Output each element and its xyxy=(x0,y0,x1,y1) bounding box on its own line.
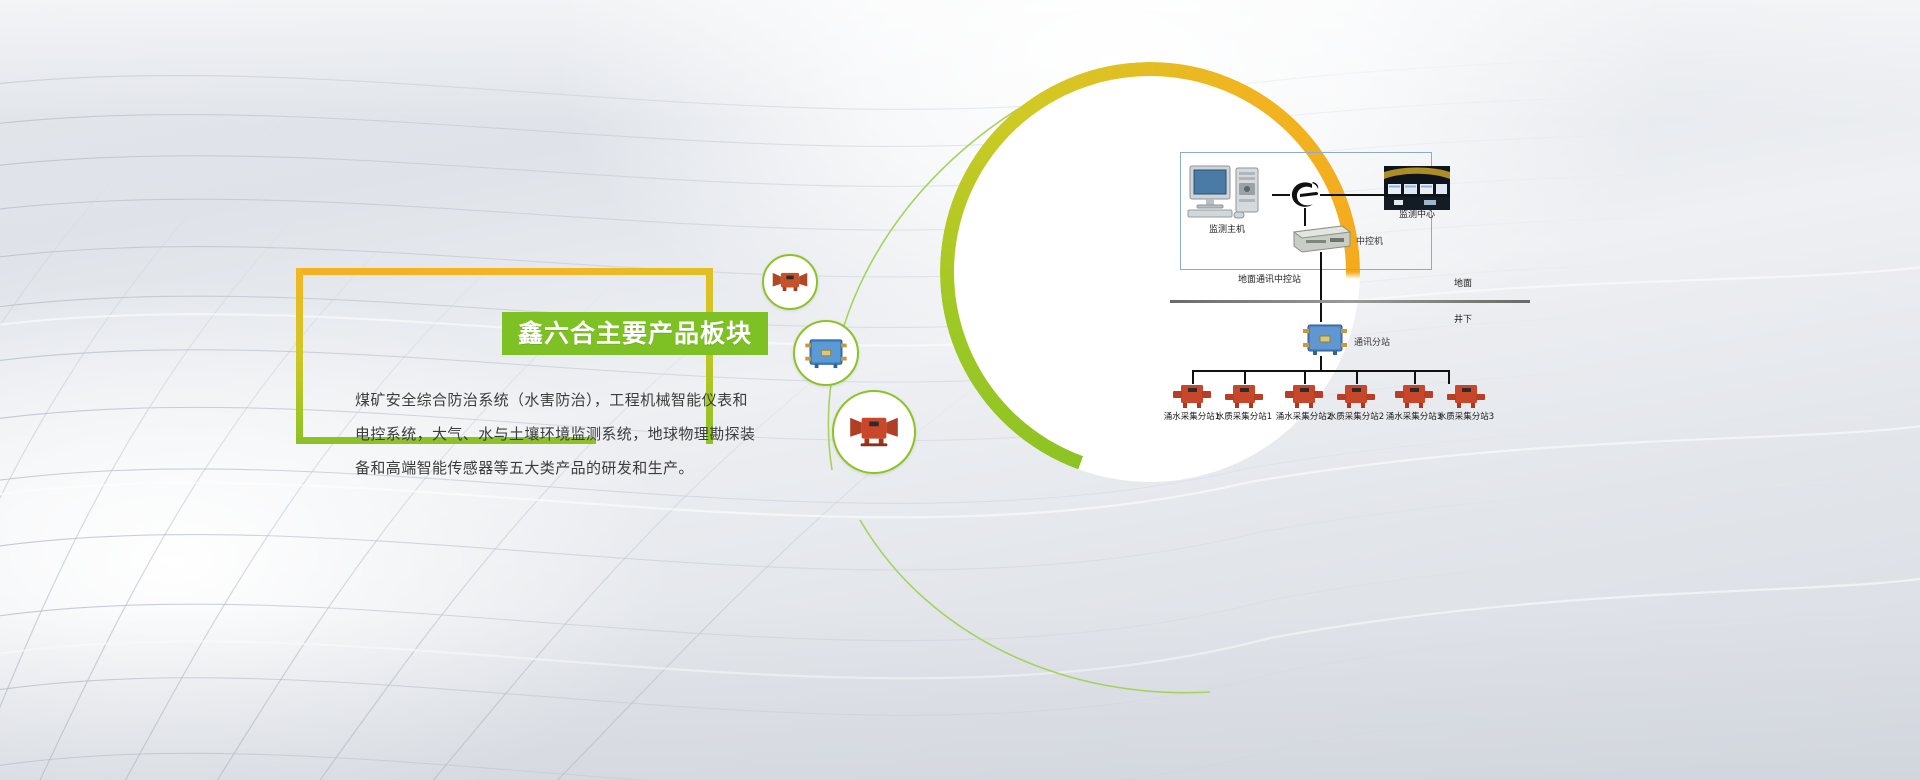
station-label: 水质采集分站1 xyxy=(1216,410,1272,422)
underground-level-label: 井下 xyxy=(1454,312,1472,325)
product-intro-panel: 鑫六合主要产品板块 煤矿安全综合防治系统（水害防治），工程机械智能仪表和 电控系… xyxy=(0,0,760,780)
station-label: 水质采集分站2 xyxy=(1328,410,1384,422)
station-drop-wire xyxy=(1192,370,1194,384)
station-label: 涌水采集分站3 xyxy=(1386,410,1442,422)
station-drop-wire xyxy=(1244,370,1246,384)
wire-net-to-controller xyxy=(1304,208,1306,226)
monitoring-center: 监测中心 xyxy=(1384,166,1450,218)
station-drop-wire xyxy=(1356,370,1358,384)
station-node: 涌水采集分站3 xyxy=(1394,374,1434,408)
wire-host-to-net xyxy=(1272,194,1290,196)
blue-junction-box-badge[interactable] xyxy=(793,320,859,386)
monitoring-center-label: 监测中心 xyxy=(1399,211,1435,221)
system-diagram-panel: 监测主机 xyxy=(740,0,1920,780)
internet-e-icon xyxy=(1288,178,1322,212)
station-node: 涌水采集分站2 xyxy=(1284,374,1324,408)
orange-sensor-icon xyxy=(770,268,810,296)
station-node: 水质采集分站3 xyxy=(1446,374,1486,408)
description-line-1: 煤矿安全综合防治系统（水害防治），工程机械智能仪表和 xyxy=(355,383,715,417)
ground-level-label: 地面 xyxy=(1454,276,1472,289)
wire-substation-to-bus xyxy=(1320,356,1322,371)
diagram-ring: 监测主机 xyxy=(940,62,1360,482)
section-title-banner: 鑫六合主要产品板块 xyxy=(502,312,768,355)
page-title: 鑫六合主要产品板块 xyxy=(518,321,752,346)
station-label: 水质采集分站3 xyxy=(1438,410,1494,422)
description-line-2: 电控系统，大气、水与土壤环境监测系统，地球物理勘探装 xyxy=(355,417,715,451)
station-node: 水质采集分站2 xyxy=(1336,374,1376,408)
mine-water-monitoring-diagram: 监测主机 xyxy=(1162,152,1540,522)
decorative-frame-left xyxy=(296,268,303,444)
description-line-3: 备和高端智能传感器等五大类产品的研发和生产。 xyxy=(355,451,715,485)
station-node: 水质采集分站1 xyxy=(1224,374,1264,408)
communication-substation: 通讯分站 xyxy=(1302,322,1348,356)
central-controller-label: 中控机 xyxy=(1356,234,1383,247)
surface-control-box-label: 地面通讯中控站 xyxy=(1238,272,1301,285)
product-description: 煤矿安全综合防治系统（水害防治），工程机械智能仪表和 电控系统，大气、水与土壤环… xyxy=(355,383,715,485)
red-flowmeter-icon xyxy=(847,412,901,452)
monitoring-host: 监测主机 xyxy=(1184,162,1270,236)
monitoring-host-label: 监测主机 xyxy=(1209,226,1245,236)
sensor-device-badge[interactable] xyxy=(762,254,818,310)
wire-controller-to-substation xyxy=(1320,252,1322,322)
communication-substation-label: 通讯分站 xyxy=(1354,335,1390,348)
blue-box-icon xyxy=(804,337,848,369)
station-node: 涌水采集分站1 xyxy=(1172,374,1212,408)
station-drop-wire xyxy=(1448,370,1450,384)
station-label: 涌水采集分站2 xyxy=(1276,410,1332,422)
station-label: 涌水采集分站1 xyxy=(1164,410,1220,422)
wire-net-to-center xyxy=(1320,194,1386,196)
station-drop-wire xyxy=(1304,370,1306,384)
station-drop-wire xyxy=(1414,370,1416,384)
red-flow-meter-badge[interactable] xyxy=(832,390,916,474)
ground-surface-line xyxy=(1170,300,1530,303)
central-controller: 中控机 xyxy=(1290,224,1352,254)
